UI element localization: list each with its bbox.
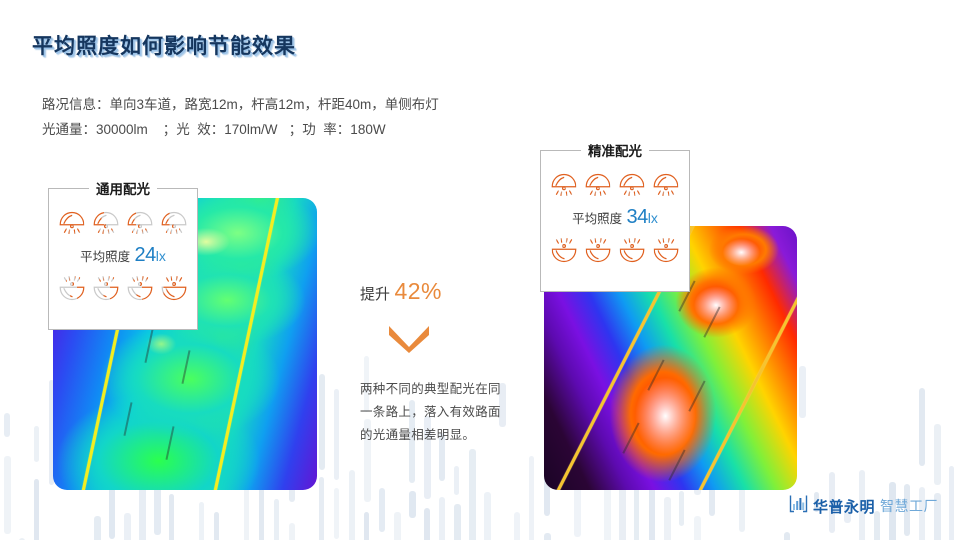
avg-unit: lx xyxy=(648,210,658,226)
decorative-bar xyxy=(364,512,369,540)
decorative-bar xyxy=(949,466,954,540)
decorative-bar xyxy=(454,504,461,540)
decorative-bar xyxy=(244,488,249,540)
lamp-dome-icon xyxy=(548,167,580,199)
decorative-bar xyxy=(424,508,430,540)
avg-label: 平均照度 xyxy=(80,250,130,264)
decorative-bar xyxy=(604,484,611,540)
decorative-bar xyxy=(544,533,551,540)
lamp-dome-icon xyxy=(56,205,88,237)
factory-mark-icon xyxy=(789,494,808,518)
decorative-bar xyxy=(919,388,925,466)
improvement-line: 提升 42% xyxy=(360,278,510,305)
logo-brand-text: 华普永明 xyxy=(813,496,875,517)
avg-value: 24 xyxy=(135,244,156,266)
lamp-bowl-icon xyxy=(582,237,614,269)
lamp-bowl-icon xyxy=(90,275,122,307)
lane-mark xyxy=(688,381,705,412)
lane-mark xyxy=(166,426,175,460)
decorative-bar xyxy=(34,426,39,462)
lane-mark xyxy=(145,330,154,364)
lamp-dome-icon xyxy=(158,205,190,237)
decorative-bar xyxy=(4,413,10,437)
lamp-bowl-icon xyxy=(650,237,682,269)
decorative-bar xyxy=(274,499,279,540)
decorative-bar xyxy=(319,374,325,470)
decorative-bar xyxy=(934,424,941,485)
card-precise-distribution: 精准配光 xyxy=(540,150,690,292)
avg-unit: lx xyxy=(156,248,166,264)
improvement-label: 提升 xyxy=(360,286,390,303)
decorative-bar xyxy=(679,491,684,526)
chevron-down-icon xyxy=(360,323,510,358)
decorative-bar xyxy=(124,513,131,540)
lamp-dome-icon xyxy=(650,167,682,199)
decorative-bar xyxy=(694,516,701,540)
lane-mark xyxy=(703,307,720,338)
decorative-bar xyxy=(664,497,671,540)
lamp-bowl-icon xyxy=(56,275,88,307)
lamp-row-bottom-general xyxy=(49,275,197,307)
card-general-distribution: 通用配光 xyxy=(48,188,198,330)
decorative-bar xyxy=(454,466,459,495)
spec-line-lumen: 光通量：30000lm ；光 效：170lm/W ；功 率：180W xyxy=(42,117,439,142)
spec-line-road: 路况信息：单向3车道，路宽12m，杆高12m，杆距40m，单侧布灯 xyxy=(42,92,439,117)
decorative-bar xyxy=(199,502,204,540)
avg-label: 平均照度 xyxy=(572,212,622,226)
improvement-value: 42% xyxy=(394,278,442,304)
spec-block: 路况信息：单向3车道，路宽12m，杆高12m，杆距40m，单侧布灯 光通量：30… xyxy=(42,92,439,142)
lamp-dome-icon xyxy=(616,167,648,199)
avg-value: 34 xyxy=(627,206,648,228)
card-precise-title: 精准配光 xyxy=(581,140,649,160)
decorative-bar xyxy=(334,488,339,539)
lane-mark xyxy=(648,360,665,391)
decorative-bar xyxy=(484,492,491,540)
card-general-title: 通用配光 xyxy=(89,178,157,198)
lane-mark xyxy=(622,423,639,454)
decorative-bar xyxy=(34,479,39,540)
avg-illuminance-precise: 平均照度 34lx xyxy=(541,206,689,229)
decorative-bar xyxy=(394,512,401,540)
decorative-bar xyxy=(289,523,295,540)
lamp-bowl-icon xyxy=(124,275,156,307)
road-edge-line xyxy=(672,226,797,490)
decorative-bar xyxy=(4,456,11,534)
lamp-bowl-icon xyxy=(548,237,580,269)
decorative-bar xyxy=(169,494,174,540)
lamp-row-bottom-precise xyxy=(541,237,689,269)
decorative-bar xyxy=(514,512,520,540)
lamp-dome-icon xyxy=(124,205,156,237)
lane-mark xyxy=(668,449,685,480)
logo-sub-text: 智慧工厂 xyxy=(880,496,938,516)
lamp-row-top-general xyxy=(49,205,197,237)
road-edge-line xyxy=(198,198,292,490)
lamp-dome-icon xyxy=(90,205,122,237)
lamp-row-top-precise xyxy=(541,167,689,199)
decorative-bar xyxy=(469,449,476,540)
lamp-dome-icon xyxy=(582,167,614,199)
lamp-bowl-icon xyxy=(616,237,648,269)
decorative-bar xyxy=(439,497,445,540)
decorative-bar xyxy=(94,516,101,540)
decorative-bar xyxy=(799,366,806,418)
decorative-bar xyxy=(349,470,355,540)
decorative-bar xyxy=(379,488,385,532)
decorative-bar xyxy=(529,456,534,540)
brand-logo: 华普永明 智慧工厂 xyxy=(789,494,938,518)
lamp-bowl-icon xyxy=(158,275,190,307)
page-title: 平均照度如何影响节能效果 xyxy=(32,30,296,60)
lane-mark xyxy=(123,403,132,437)
comparison-center-column: 提升 42% 两种不同的典型配光在同一条路上，落入有效路面的光通量相差明显。 xyxy=(360,278,510,447)
decorative-bar xyxy=(739,483,745,532)
decorative-bar xyxy=(319,477,324,540)
comparison-caption: 两种不同的典型配光在同一条路上，落入有效路面的光通量相差明显。 xyxy=(360,378,505,447)
decorative-bar xyxy=(409,491,416,518)
avg-illuminance-general: 平均照度 24lx xyxy=(49,244,197,267)
decorative-bar xyxy=(334,389,339,480)
decorative-bar xyxy=(214,512,219,540)
slide-canvas: 平均照度如何影响节能效果 路况信息：单向3车道，路宽12m，杆高12m，杆距40… xyxy=(0,0,960,540)
decorative-bar xyxy=(784,532,790,540)
lane-mark xyxy=(181,350,190,384)
